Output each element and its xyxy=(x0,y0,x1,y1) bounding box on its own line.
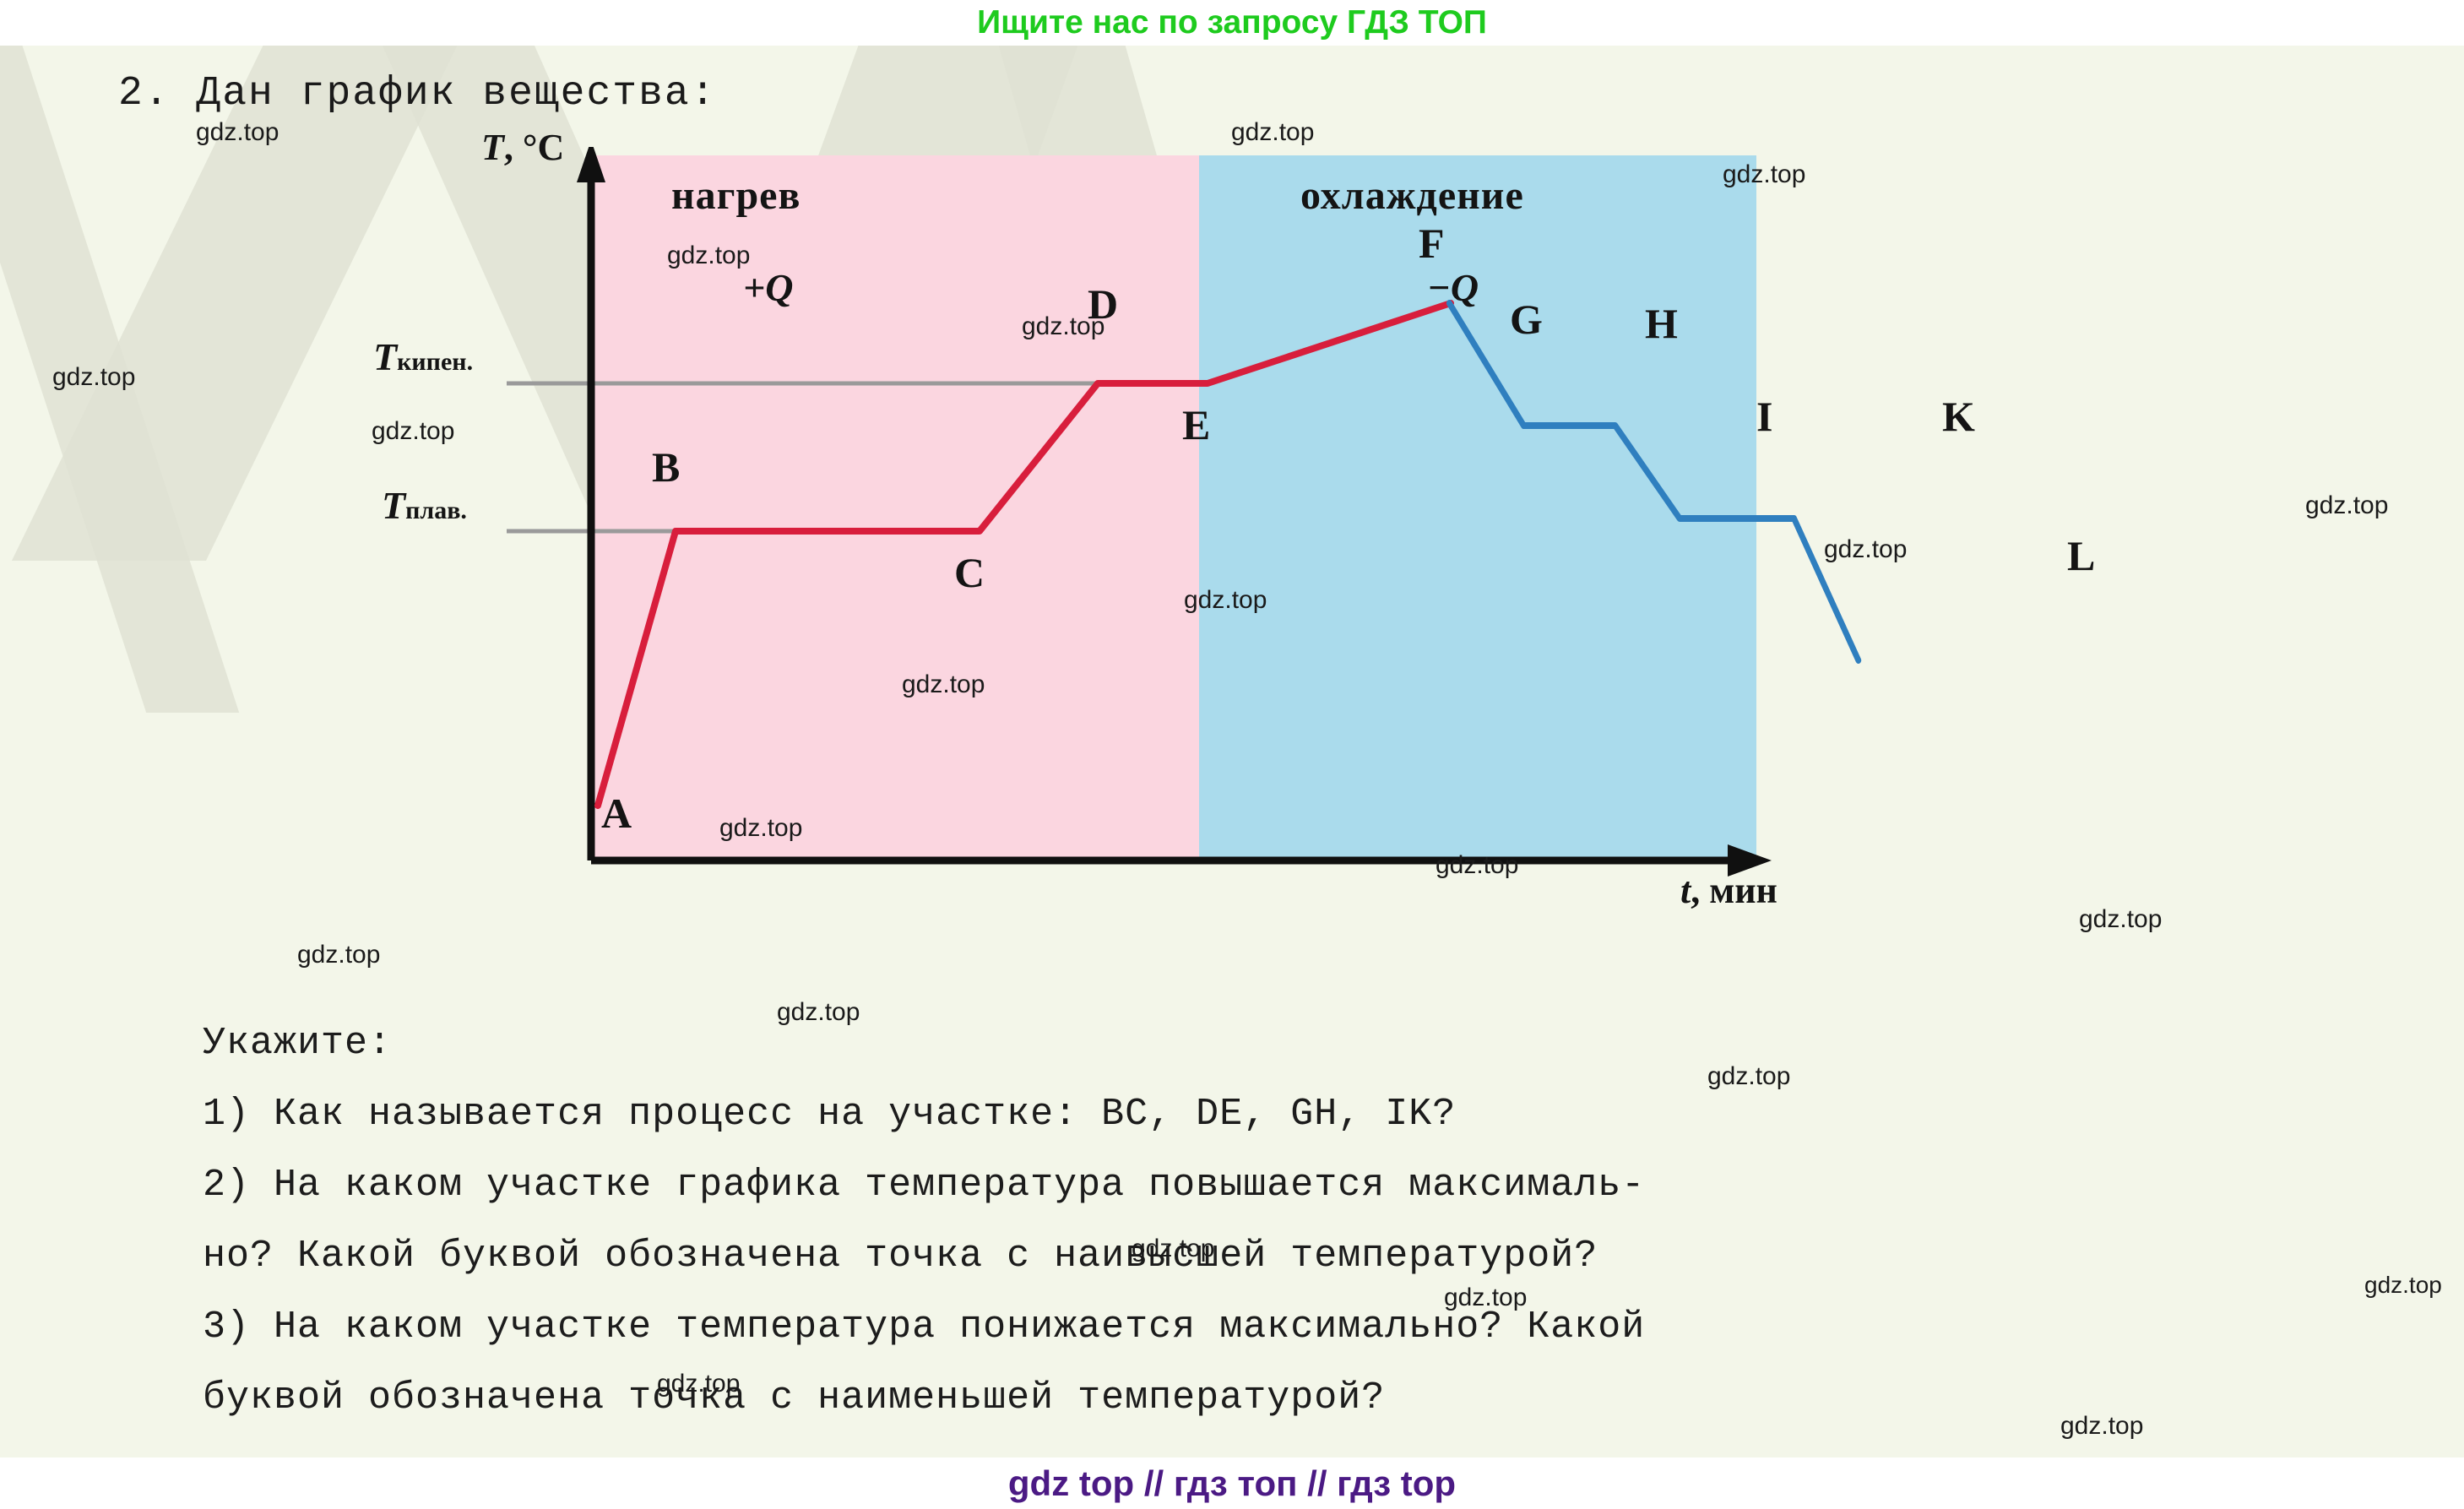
point-label-C: C xyxy=(954,548,985,597)
point-label-D: D xyxy=(1088,280,1118,328)
worksheet-page: 2. Дан график вещества: нагрев +Q охлажд… xyxy=(0,46,2464,1457)
page-title: 2. Дан график вещества: xyxy=(118,71,717,117)
bottom-promo-bar: gdz top // гдз топ // гдз top xyxy=(0,1457,2464,1509)
gdz-watermark: gdz.top xyxy=(2079,905,2162,934)
point-label-B: B xyxy=(652,442,680,491)
top-promo-banner-text: Ищите нас по запросу ГДЗ ТОП xyxy=(977,4,1487,41)
question-line-1: 1) Как называется процесс на участке: BC… xyxy=(203,1079,2415,1150)
heating-energy-label: +Q xyxy=(743,265,793,310)
question-line-4: 3) На каком участке температура понижает… xyxy=(203,1292,2415,1363)
boiling-temp-symbol: T xyxy=(373,335,397,378)
cooling-zone-label: охлаждение xyxy=(1300,172,1524,219)
gdz-watermark: gdz.top xyxy=(1231,118,1314,147)
melting-temp-symbol: T xyxy=(382,484,405,527)
cooling-energy-label: −Q xyxy=(1427,265,1479,310)
question-line-3: но? Какой буквой обозначена точка с наив… xyxy=(203,1221,2415,1292)
boiling-temp-label: Tкипен. xyxy=(373,334,473,379)
heating-zone-label: нагрев xyxy=(671,172,801,219)
questions-block: Укажите: 1) Как называется процесс на уч… xyxy=(203,1008,2415,1434)
gdz-watermark: gdz.top xyxy=(297,941,380,969)
heating-zone-background xyxy=(591,155,1199,860)
point-label-G: G xyxy=(1510,295,1543,344)
top-promo-banner: Ищите нас по запросу ГДЗ ТОП xyxy=(0,0,2464,46)
point-label-H: H xyxy=(1645,299,1678,348)
point-label-E: E xyxy=(1182,400,1210,449)
x-axis-label: t, мин xyxy=(1680,869,1777,912)
melting-temp-label: Tплав. xyxy=(382,483,467,528)
bottom-promo-text: gdz top // гдз топ // гдз top xyxy=(1008,1463,1456,1504)
point-label-I: I xyxy=(1756,392,1772,441)
point-label-L: L xyxy=(2067,531,2095,580)
questions-lead: Укажите: xyxy=(203,1008,2415,1079)
y-axis-unit: , °C xyxy=(504,127,564,168)
gdz-watermark: gdz.top xyxy=(2305,491,2388,520)
point-label-K: K xyxy=(1942,392,1975,441)
point-label-F: F xyxy=(1419,219,1445,268)
boiling-temp-subscript: кипен. xyxy=(397,348,473,376)
phase-transition-chart: нагрев +Q охлаждение −Q Tкипен. Tплав. T… xyxy=(507,147,1942,991)
x-axis-unit: , мин xyxy=(1691,870,1777,911)
gdz-watermark: gdz.top xyxy=(372,417,454,446)
y-axis-symbol: T xyxy=(481,127,504,168)
chart-canvas xyxy=(507,147,1942,991)
question-line-2: 2) На каком участке графика температура … xyxy=(203,1150,2415,1221)
x-axis-symbol: t xyxy=(1680,870,1691,911)
y-axis-label: T, °C xyxy=(481,126,564,169)
question-line-5: буквой обозначена точка с наименьшей тем… xyxy=(203,1363,2415,1434)
point-label-A: A xyxy=(601,789,632,838)
melting-temp-subscript: плав. xyxy=(405,497,467,524)
